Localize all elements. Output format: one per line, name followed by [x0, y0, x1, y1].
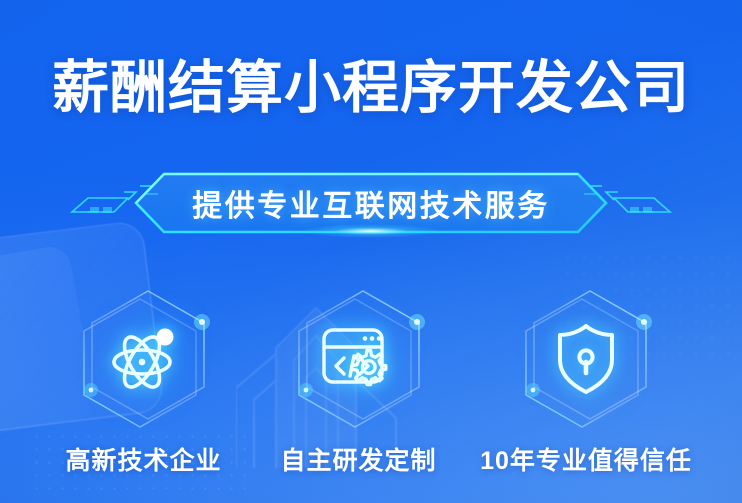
hexagon-frame — [71, 286, 217, 432]
subtitle-banner: 提供专业互联网技术服务 — [134, 172, 608, 234]
feature-list: 高新技术企业 — [0, 286, 742, 501]
code-window-gear-icon — [286, 286, 432, 432]
feature-item-self-developed: 自主研发定制 — [251, 286, 466, 477]
feature-label: 自主研发定制 — [280, 441, 436, 477]
feature-label: 10年专业值得信任 — [480, 441, 692, 477]
feature-item-high-tech: 高新技术企业 — [36, 286, 251, 477]
hexagon-frame — [286, 286, 432, 432]
page-title: 薪酬结算小程序开发公司 — [0, 54, 742, 122]
subtitle-text: 提供专业互联网技术服务 — [134, 172, 608, 234]
promo-banner: 薪酬结算小程序开发公司 — [0, 0, 742, 503]
hexagon-frame — [513, 286, 659, 432]
subtitle-banner-group: 提供专业互联网技术服务 — [0, 168, 742, 236]
atom-icon — [71, 286, 217, 432]
feature-item-trusted: 10年专业值得信任 — [466, 286, 706, 477]
shield-lock-icon — [513, 286, 659, 432]
feature-label: 高新技术企业 — [65, 441, 221, 477]
